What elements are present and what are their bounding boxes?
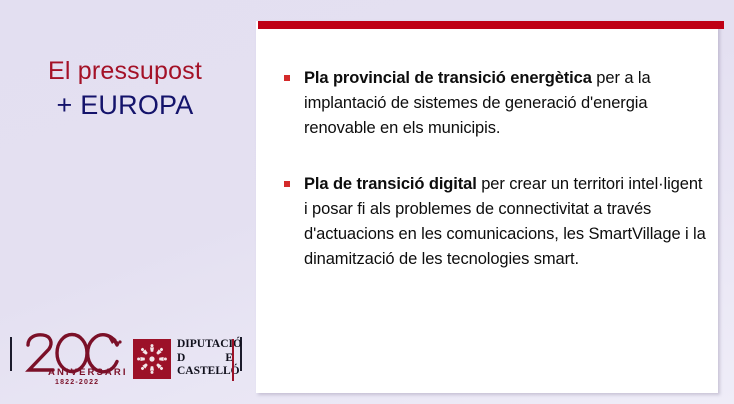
diputacio-coat-of-arms-icon [133,339,171,379]
list-item-text: Pla provincial de transició energètica p… [304,66,706,141]
aniversari-years: 1822-2022 [55,379,99,386]
panel-accent-bar [258,21,724,29]
diputacio-line-1: DIPUTACIÓ [177,338,233,352]
square-bullet-icon [284,181,290,187]
diputacio-line-2: D E [177,352,233,366]
list-item: Pla de transició digital per crear un te… [284,172,706,272]
diputacio-vertical-rule [232,339,234,381]
list-item: Pla provincial de transició energètica p… [284,66,706,141]
diputacio-wordmark: DIPUTACIÓ D E CASTELLÓ [177,338,233,380]
coat-of-arms-figures-icon [133,339,171,379]
slide-canvas: El pressupost + EUROPA Pla provincial de… [0,0,734,404]
diputacio-castello-logo: DIPUTACIÓ D E CASTELLÓ [133,339,233,381]
diputacio-line-2-left: D [177,352,185,366]
diputacio-line-3: CASTELLÓ [177,365,233,379]
list-item-lead: Pla de transició digital [304,175,477,193]
page-title-primary: El pressupost [0,55,250,87]
content-panel: Pla provincial de transició energètica p… [256,21,718,393]
square-bullet-icon [284,75,290,81]
slide-title-block: El pressupost + EUROPA [0,55,250,123]
page-title-secondary: + EUROPA [0,87,250,123]
divider-left [10,337,12,371]
list-item-text: Pla de transició digital per crear un te… [304,172,706,272]
bullet-list: Pla provincial de transició energètica p… [284,66,706,303]
aniversari-logo: ANIVERSARI 1822-2022 [22,332,126,390]
list-item-lead: Pla provincial de transició energètica [304,69,592,87]
aniversari-word: ANIVERSARI [48,367,128,378]
